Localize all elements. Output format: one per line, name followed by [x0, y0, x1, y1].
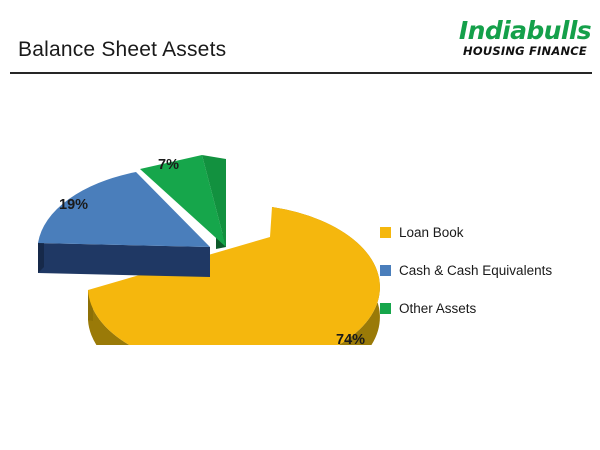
slice-label-loan-book: 74% — [336, 332, 365, 348]
legend-label-cash-equivalents: Cash & Cash Equivalents — [399, 263, 552, 278]
chart-legend: Loan Book Cash & Cash Equivalents Other … — [380, 213, 590, 327]
page-title: Balance Sheet Assets — [18, 38, 226, 62]
legend-item-other-assets[interactable]: Other Assets — [380, 289, 590, 327]
legend-item-cash-equivalents[interactable]: Cash & Cash Equivalents — [380, 251, 590, 289]
pie-chart-graphic — [30, 115, 390, 345]
slide: Balance Sheet Assets Indiabulls HOUSING … — [0, 0, 600, 450]
pie-chart: 74% 19% 7% Loan Book Cash & Cash Equival… — [0, 95, 600, 415]
indiabulls-logo: Indiabulls HOUSING FINANCE — [458, 18, 592, 58]
legend-label-other-assets: Other Assets — [399, 301, 476, 316]
logo-tagline: HOUSING FINANCE — [458, 46, 592, 58]
legend-swatch-loan-book — [380, 227, 391, 238]
legend-label-loan-book: Loan Book — [399, 225, 464, 240]
legend-swatch-cash-equivalents — [380, 265, 391, 276]
title-divider — [10, 72, 592, 74]
logo-wordmark: Indiabulls — [458, 18, 592, 43]
slice-label-cash-equivalents: 19% — [59, 197, 88, 213]
legend-item-loan-book[interactable]: Loan Book — [380, 213, 590, 251]
legend-swatch-other-assets — [380, 303, 391, 314]
slice-label-other-assets: 7% — [158, 157, 179, 173]
